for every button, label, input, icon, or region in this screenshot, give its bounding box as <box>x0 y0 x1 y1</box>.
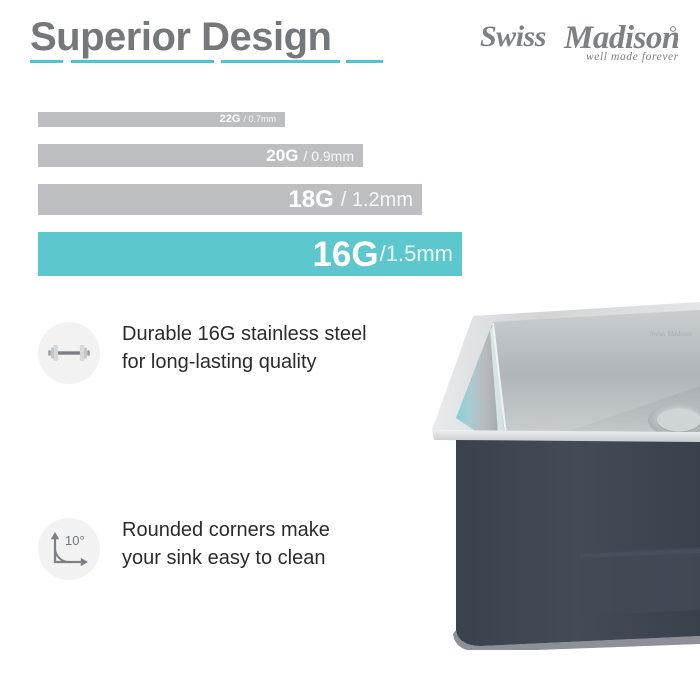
gauge-bar-22g-thickness: / 0.7mm <box>243 115 276 124</box>
gauge-bar-18g-gauge: 18G <box>288 188 333 212</box>
feature-line-2: for long-lasting quality <box>122 348 422 376</box>
gauge-bar-20g-gauge: 20G <box>266 147 298 164</box>
gauge-bar-20g-thickness: / 0.9mm <box>303 149 354 163</box>
gauge-bar-16g-thickness: /1.5mm <box>380 243 453 265</box>
feature-list: Durable 16G stainless steel for long-las… <box>0 318 430 606</box>
gauge-bar-22g-gauge: 22G <box>220 114 241 125</box>
gauge-comparison-chart: 22G / 0.7mm 20G / 0.9mm 18G / 1.2mm 16G … <box>0 0 700 290</box>
dumbbell-icon <box>38 322 100 384</box>
feature-item-rounded-corners: 10° Rounded corners make your sink easy … <box>0 514 430 610</box>
gauge-bar-18g: 18G / 1.2mm <box>38 184 422 215</box>
gauge-bar-16g: 16G /1.5mm <box>38 232 462 276</box>
feature-item-durability-text: Durable 16G stainless steel for long-las… <box>122 320 422 376</box>
gauge-bar-16g-gauge: 16G <box>312 237 378 272</box>
feature-item-durability: Durable 16G stainless steel for long-las… <box>0 318 430 414</box>
svg-text:10°: 10° <box>65 533 85 548</box>
feature-item-rounded-corners-text: Rounded corners make your sink easy to c… <box>122 516 422 572</box>
gauge-bar-18g-thickness: / 1.2mm <box>341 190 413 210</box>
svg-text:Swiss Madison: Swiss Madison <box>650 330 692 338</box>
gauge-bar-20g: 20G / 0.9mm <box>38 144 363 167</box>
feature-line-2: your sink easy to clean <box>122 544 422 572</box>
angle-10-degree-icon: 10° <box>38 518 100 580</box>
feature-line-1: Durable 16G stainless steel <box>122 320 422 348</box>
gauge-bar-22g: 22G / 0.7mm <box>38 112 285 127</box>
product-image-sink: Swiss Madison <box>398 300 700 650</box>
infographic-page: Superior Design Swiss Madison well made … <box>0 0 700 700</box>
feature-line-1: Rounded corners make <box>122 516 422 544</box>
